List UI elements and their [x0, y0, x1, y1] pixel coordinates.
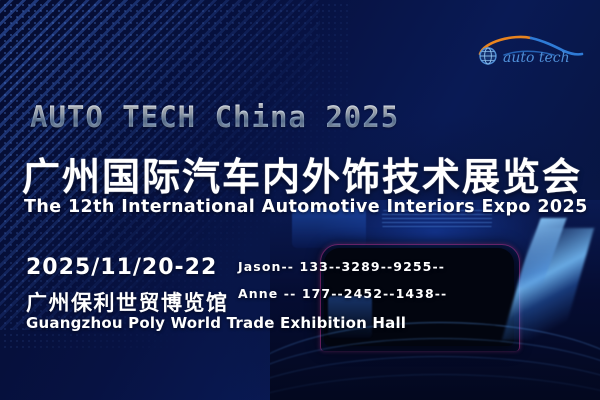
poster-content: AUTO TECH China 2025 广州国际汽车内外饰技术展览会 The …	[0, 0, 600, 400]
venue-name-chinese: 广州保利世贸博览馆	[26, 287, 229, 317]
contact-jason: Jason-- 133--3289--9255--	[238, 259, 445, 274]
poster-title-chinese: 广州国际汽车内外饰技术展览会	[22, 146, 582, 201]
exhibition-poster: auto tech AUTO TECH China 2025 广州国际汽车内外饰…	[0, 0, 600, 400]
poster-subtitle-english: The 12th International Automotive Interi…	[24, 197, 588, 217]
poster-title-english: AUTO TECH China 2025	[30, 100, 399, 134]
venue-name-english: Guangzhou Poly World Trade Exhibition Ha…	[26, 314, 406, 332]
contact-anne: Anne -- 177--2452--1438--	[238, 286, 447, 301]
event-date: 2025/11/20-22	[26, 255, 217, 280]
